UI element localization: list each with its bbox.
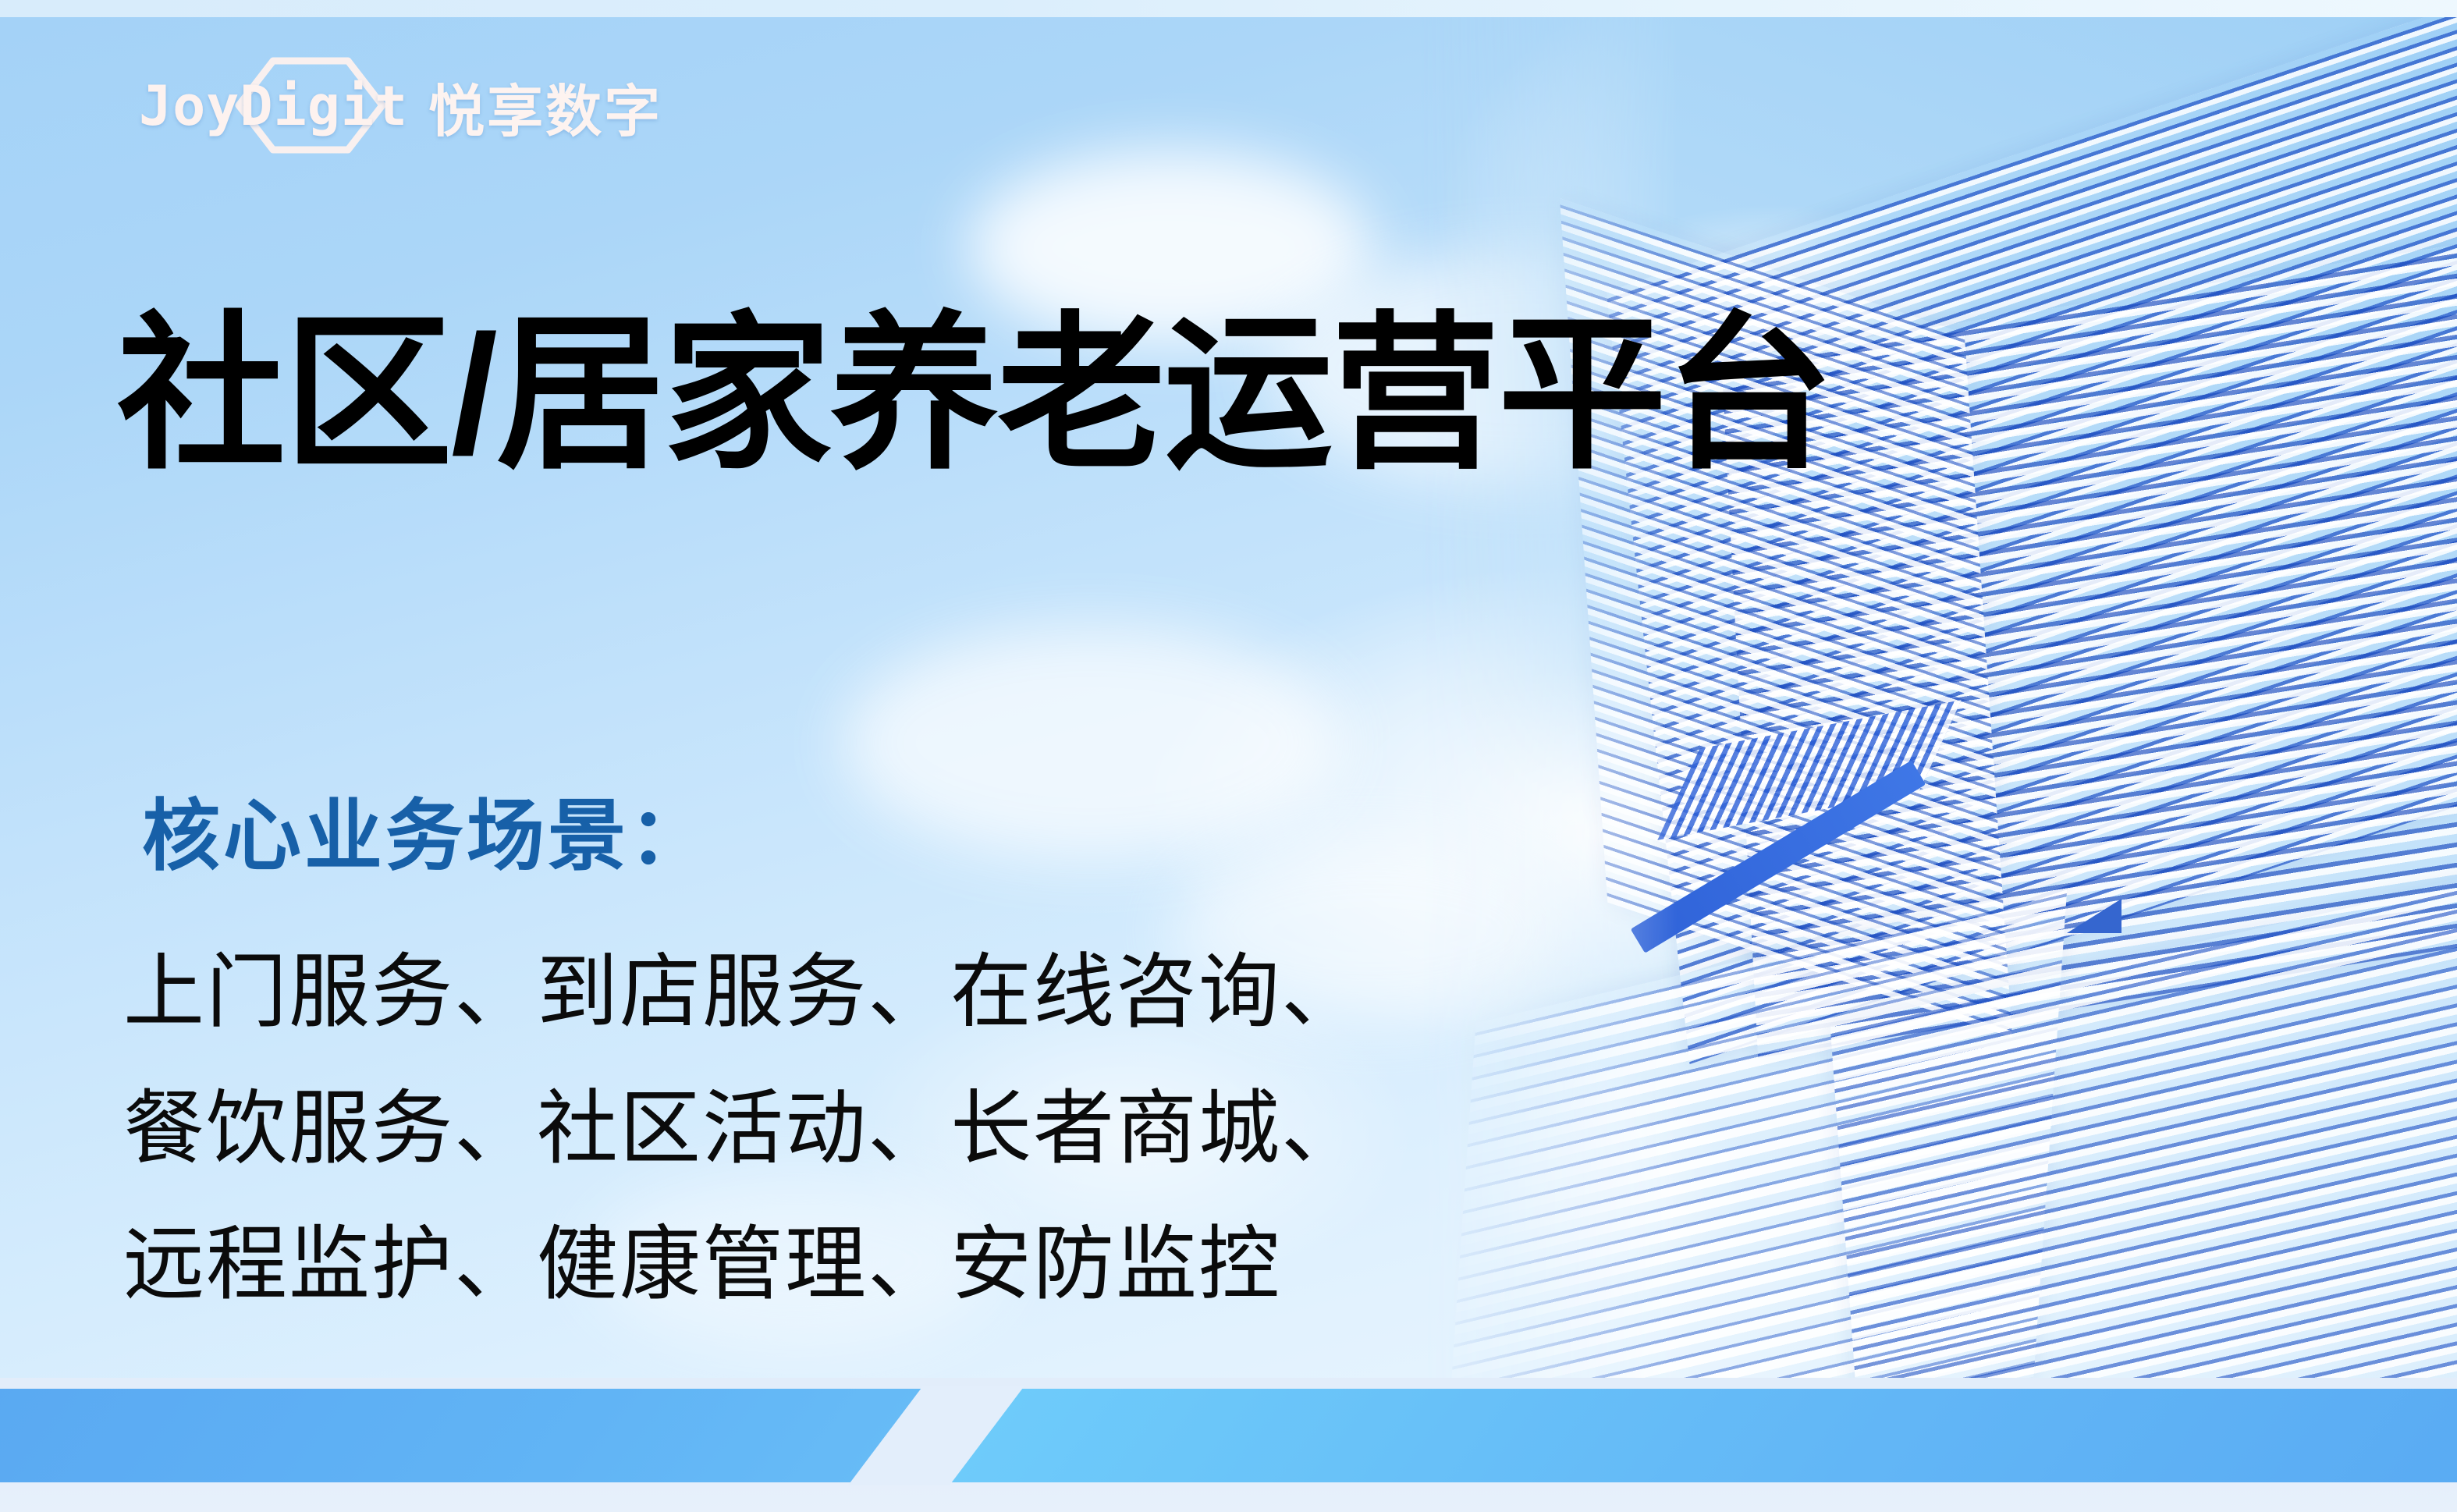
skyscraper-photo xyxy=(1419,17,2457,1379)
scenario-text-block: 上门服务、到店服务、在线咨询、 餐饮服务、社区活动、长者商城、 远程监护、健康管… xyxy=(123,925,1364,1333)
scenario-line: 远程监护、健康管理、安防监控 xyxy=(123,1197,1364,1333)
scenario-line: 餐饮服务、社区活动、长者商城、 xyxy=(123,1061,1364,1198)
brand-chinese-name: 悦享数字 xyxy=(428,66,662,147)
brand-logo: JoyDigit 悦享数字 xyxy=(139,61,662,151)
cloud-shape xyxy=(843,626,1342,860)
banner-bar-right xyxy=(948,1389,2457,1482)
brand-wordmark: JoyDigit xyxy=(139,74,408,138)
bottom-banner xyxy=(0,1378,2457,1512)
building-corner-accent xyxy=(2067,899,2121,933)
section-heading: 核心业务场景： xyxy=(142,772,710,886)
scenario-line: 上门服务、到店服务、在线咨询、 xyxy=(123,925,1364,1061)
top-accent-strip xyxy=(0,0,2457,17)
slide-title: 社区/居家养老运营平台 xyxy=(117,257,1832,502)
presentation-slide: JoyDigit 悦享数字 社区/居家养老运营平台 核心业务场景： 上门服务、到… xyxy=(0,0,2457,1512)
